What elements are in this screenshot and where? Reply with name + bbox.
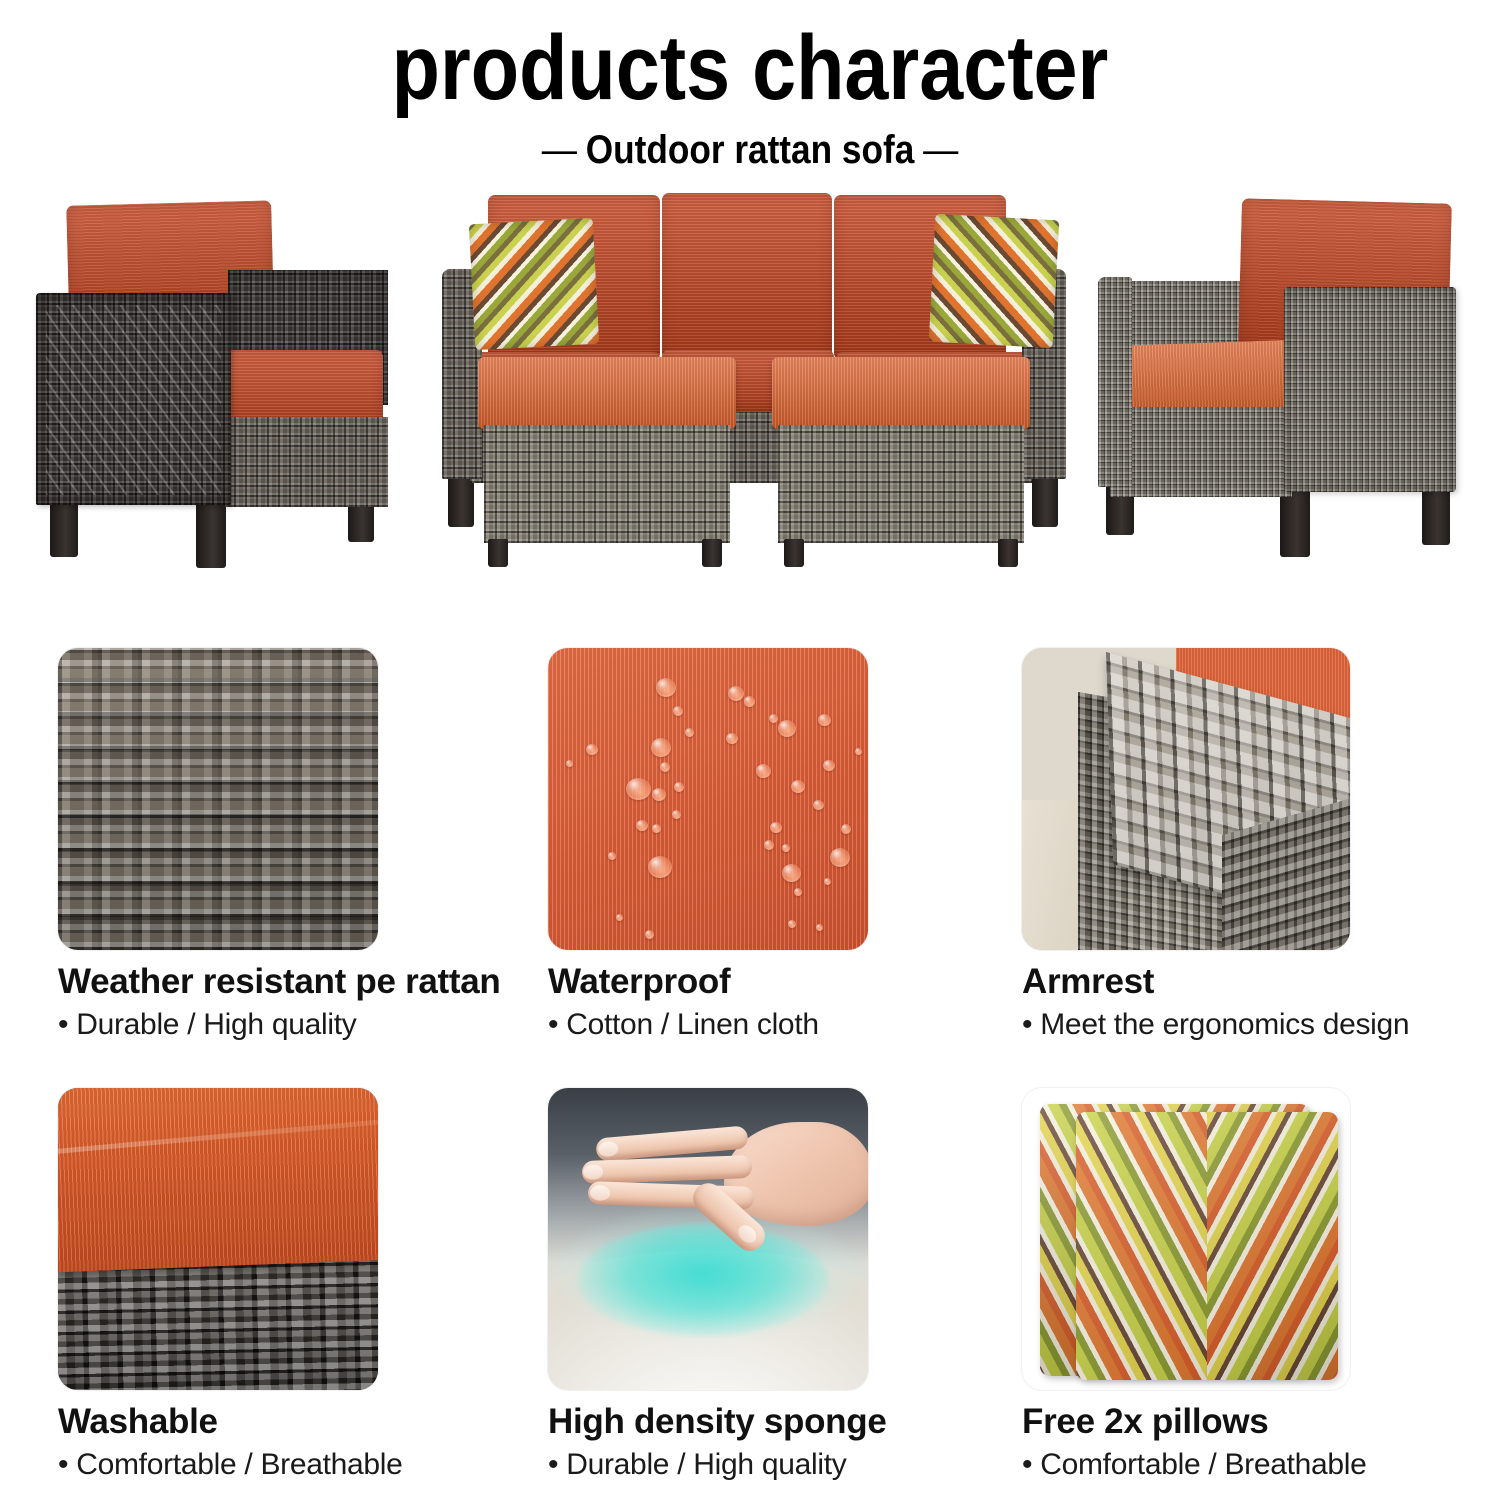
right-chair-arm-right-panel (1284, 287, 1456, 492)
feature-bullet: • Durable / High quality (548, 1446, 876, 1484)
armrest-corner-closeup-image (1022, 648, 1350, 950)
water-droplet (660, 762, 670, 772)
water-droplet (782, 844, 790, 852)
water-droplet (855, 748, 862, 755)
feature-title: Weather resistant pe rattan (58, 960, 386, 1004)
water-droplet (778, 720, 796, 737)
water-droplet (744, 696, 755, 707)
water-droplet (764, 840, 774, 850)
feature-grid: Weather resistant pe rattan • Durable / … (0, 648, 1500, 1500)
water-droplet (608, 852, 616, 860)
washable-cushion-on-weave-image (58, 1088, 378, 1390)
dash-right-glyph: — (914, 126, 967, 174)
water-droplet (728, 686, 744, 701)
hero-product-image (0, 185, 1500, 585)
pillow-front (1076, 1112, 1338, 1380)
feature-title: Armrest (1022, 960, 1350, 1004)
feature-bullet: • Durable / High quality (58, 1006, 386, 1044)
water-droplet (673, 706, 683, 716)
water-droplet (770, 822, 782, 833)
header: products character —Outdoor rattan sofa— (0, 0, 1500, 174)
dash-left-glyph: — (533, 126, 586, 174)
pillow-shading (1076, 1112, 1338, 1380)
cushion-seam-line (58, 1119, 378, 1154)
right-chair-leg-center (1280, 487, 1310, 557)
water-droplet (782, 864, 801, 882)
waterproof-fabric-droplets-image (548, 648, 868, 950)
water-droplet (636, 820, 648, 831)
feature-title: Free 2x pillows (1022, 1400, 1350, 1444)
page-subtitle-text: Outdoor rattan sofa (586, 128, 915, 172)
feature-card-high-density-sponge: High density sponge • Durable / High qua… (548, 1088, 876, 1484)
feature-card-weather-resistant-pe-rattan: Weather resistant pe rattan • Durable / … (58, 648, 386, 1044)
ottoman-right-cushion (772, 357, 1030, 429)
rattan-weave-closeup-image (58, 648, 378, 950)
feature-title: Washable (58, 1400, 386, 1444)
ottoman-right (772, 357, 1032, 572)
water-droplet (813, 800, 824, 810)
water-droplet (769, 714, 778, 723)
water-droplet (645, 930, 654, 939)
water-droplet (841, 824, 851, 834)
ottoman-left-frame (484, 425, 730, 543)
feature-row-2: Washable • Comfortable / Breathable (0, 1088, 1500, 1500)
throw-pillow-left (469, 218, 599, 350)
water-droplet (816, 924, 823, 931)
fingernail (583, 1164, 604, 1180)
water-droplet (726, 733, 738, 744)
water-droplet (652, 788, 666, 801)
feature-bullet: • Meet the ergonomics design (1022, 1006, 1350, 1044)
feature-title: Waterproof (548, 960, 876, 1004)
water-droplet (824, 878, 831, 885)
water-droplet (651, 738, 671, 757)
right-chair-arm-left (1098, 277, 1132, 487)
feature-row-1: Weather resistant pe rattan • Durable / … (0, 648, 1500, 1088)
ottoman-right-leg-1 (784, 539, 804, 567)
page-subtitle: —Outdoor rattan sofa— (90, 126, 1410, 174)
page-title: products character (105, 0, 1395, 122)
left-chair-arm-diagonal-weave (46, 305, 221, 495)
water-droplet (794, 888, 802, 896)
water-droplet (756, 764, 771, 778)
water-droplet (788, 920, 796, 928)
fingernail (735, 1222, 760, 1247)
left-armchair (28, 195, 378, 575)
water-droplet (616, 914, 623, 921)
water-droplet (626, 778, 651, 800)
ottoman-right-leg-2 (998, 539, 1018, 567)
water-droplet (674, 782, 684, 792)
ottoman-left-leg-2 (702, 539, 722, 567)
ottoman-left (478, 357, 738, 572)
fingernail (590, 1185, 611, 1201)
product-character-infographic: products character —Outdoor rattan sofa— (0, 0, 1500, 1500)
chevron-throw-pillows-image (1022, 1088, 1350, 1390)
water-droplet (818, 714, 831, 726)
ottoman-left-cushion (478, 357, 736, 429)
feature-bullet: • Comfortable / Breathable (1022, 1446, 1350, 1484)
sofa-back-cushion-2 (662, 193, 832, 360)
water-droplet (823, 760, 835, 771)
ottoman-left-leg-1 (488, 539, 508, 567)
ottoman-right-frame (778, 425, 1024, 543)
left-chair-base-apron (223, 417, 388, 507)
sofa-leg-right (1032, 475, 1058, 527)
water-droplet (685, 728, 694, 737)
fingernail (598, 1141, 619, 1158)
hand-pressing-foam-image (548, 1088, 868, 1390)
washable-orange-cushion (58, 1088, 378, 1272)
water-droplet (586, 744, 598, 755)
feature-card-free-2x-pillows: Free 2x pillows • Comfortable / Breathab… (1022, 1088, 1350, 1484)
water-droplet (672, 810, 681, 819)
water-droplet (652, 824, 661, 833)
feature-card-washable: Washable • Comfortable / Breathable (58, 1088, 386, 1484)
water-droplet (656, 678, 676, 697)
feature-bullet: • Cotton / Linen cloth (548, 1006, 876, 1044)
throw-pillow-right (929, 214, 1060, 348)
right-armchair (1092, 195, 1457, 575)
right-chair-base-apron (1110, 407, 1292, 497)
water-droplet (830, 848, 850, 867)
hand-illustration (574, 1116, 868, 1246)
feature-card-waterproof: Waterproof • Cotton / Linen cloth (548, 648, 876, 1044)
water-droplet (648, 856, 672, 878)
feature-card-armrest: Armrest • Meet the ergonomics design (1022, 648, 1350, 1044)
water-droplet (791, 780, 805, 793)
feature-title: High density sponge (548, 1400, 876, 1444)
right-chair-leg-right (1422, 483, 1450, 545)
water-droplet (566, 760, 573, 767)
left-chair-leg-right (196, 500, 226, 568)
feature-bullet: • Comfortable / Breathable (58, 1446, 386, 1484)
